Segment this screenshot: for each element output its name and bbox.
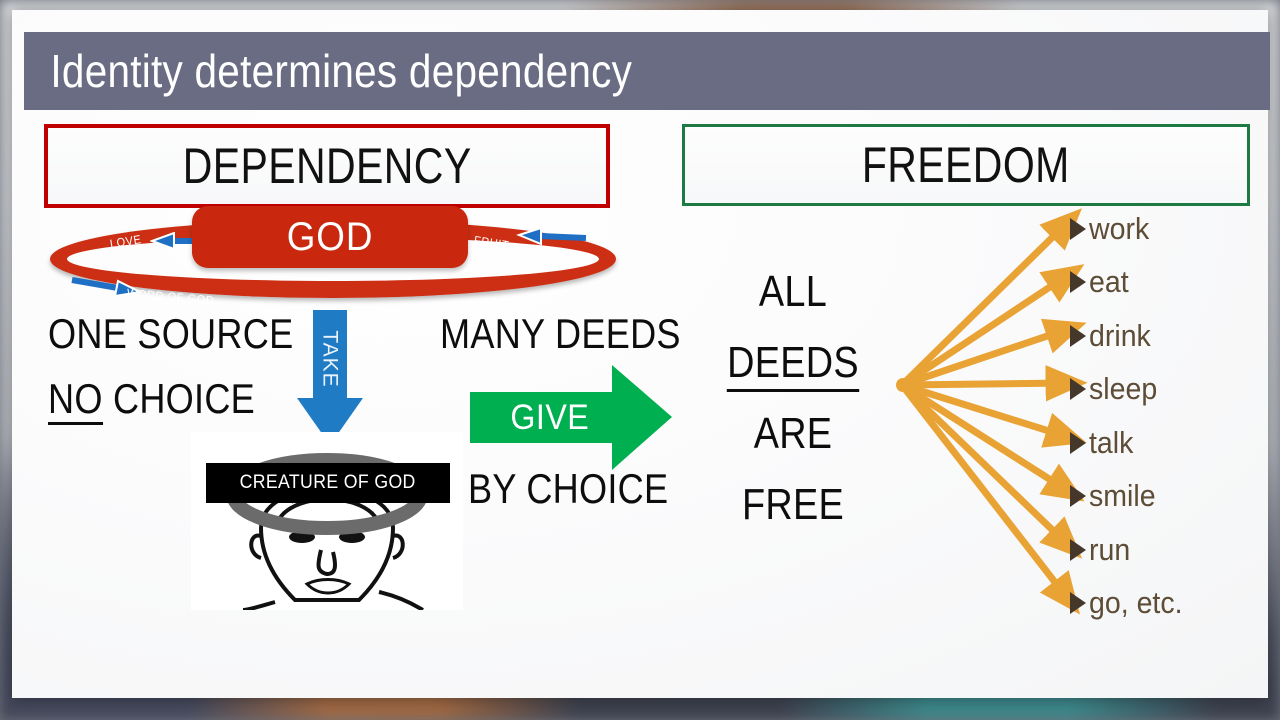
many-deeds-text: MANY DEEDS	[440, 310, 681, 358]
list-item-label: smile	[1089, 478, 1156, 514]
no-choice-text: NO CHOICE	[48, 375, 255, 423]
triangle-bullet-icon	[1070, 378, 1086, 400]
deeds-line: FREE	[723, 469, 862, 540]
give-arrow-icon	[470, 365, 672, 470]
list-item-label: run	[1089, 532, 1130, 568]
by-choice-text: BY CHOICE	[468, 465, 668, 513]
triangle-bullet-icon	[1070, 325, 1086, 347]
deeds-line: DEEDS	[723, 327, 862, 398]
creature-banner-label: CREATURE OF GOD	[240, 472, 416, 494]
list-item[interactable]: work	[1070, 202, 1260, 256]
list-item[interactable]: drink	[1070, 309, 1260, 363]
triangle-bullet-icon	[1070, 432, 1086, 454]
list-item[interactable]: sleep	[1070, 363, 1260, 417]
list-item[interactable]: eat	[1070, 256, 1260, 310]
one-source-text: ONE SOURCE	[48, 310, 293, 358]
list-item[interactable]: smile	[1070, 470, 1260, 524]
creature-of-god-image: CREATURE OF GOD	[191, 432, 463, 610]
dependency-header-label: DEPENDENCY	[183, 137, 472, 195]
list-item-label: go, etc.	[1089, 585, 1183, 621]
deeds-line-text: FREE	[742, 480, 844, 529]
list-item-label: work	[1089, 211, 1149, 247]
triangle-bullet-icon	[1070, 271, 1086, 293]
take-arrow-icon	[297, 310, 363, 445]
freedom-items-list: work eat drink sleep talk smile run go, …	[1070, 202, 1260, 630]
creature-banner: CREATURE OF GOD	[206, 463, 450, 503]
list-item-label: talk	[1089, 425, 1133, 461]
god-node: GOD	[192, 206, 468, 268]
triangle-bullet-icon	[1070, 218, 1086, 240]
slide-title-bar: Identity determines dependency	[24, 32, 1270, 110]
triangle-bullet-icon	[1070, 539, 1086, 561]
list-item-label: sleep	[1089, 371, 1157, 407]
slide-title: Identity determines dependency	[24, 44, 632, 98]
list-item-label: eat	[1089, 264, 1129, 300]
deeds-line: ARE	[723, 398, 862, 469]
triangle-bullet-icon	[1070, 592, 1086, 614]
child-face-line-art	[191, 432, 463, 610]
deeds-line-text: DEEDS	[727, 338, 859, 392]
fan-arrows-icon	[872, 190, 1102, 620]
dependency-header-box: DEPENDENCY	[44, 124, 610, 208]
freedom-header-label: FREEDOM	[862, 136, 1070, 194]
slide-canvas: Identity determines dependency DEPENDENC…	[12, 10, 1268, 698]
god-label: GOD	[287, 215, 374, 260]
no-choice-rest: CHOICE	[103, 375, 255, 422]
triangle-bullet-icon	[1070, 485, 1086, 507]
fruit-arrow-icon	[516, 227, 588, 247]
list-item[interactable]: talk	[1070, 416, 1260, 470]
list-item[interactable]: go, etc.	[1070, 577, 1260, 631]
deeds-line-text: ARE	[754, 409, 833, 458]
no-choice-underlined-word: NO	[48, 375, 103, 425]
list-item-label: drink	[1089, 318, 1151, 354]
list-item[interactable]: run	[1070, 523, 1260, 577]
deeds-line-text: ALL	[759, 267, 827, 316]
god-ring-diagram: LOVE FRUIT WORD OF GOD GOD	[42, 206, 622, 312]
all-deeds-are-free-block: ALL DEEDS ARE FREE	[712, 256, 874, 540]
deeds-line: ALL	[723, 256, 862, 327]
